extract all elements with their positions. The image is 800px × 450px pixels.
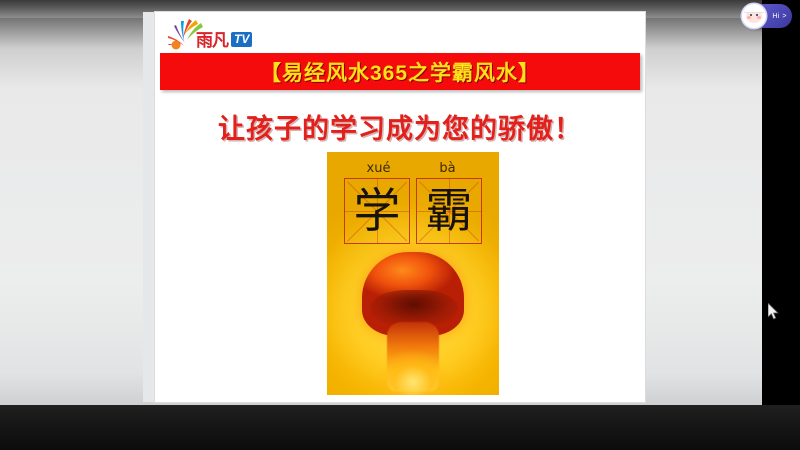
video-surface[interactable]: 雨凡 TV 【易经风水365之学霸风水】 让孩子的学习成为您的骄傲！ xué b… [0, 0, 762, 405]
pinyin-row: xué bà [344, 162, 482, 175]
avatar-cheek-left [747, 16, 751, 19]
channel-logo: 雨凡 TV [165, 16, 261, 58]
flaming-fist-illustration [358, 252, 468, 390]
character-cell-ba: 霸 [416, 178, 482, 244]
assistant-label: Hi > [772, 13, 787, 20]
logo-tv-badge: TV [231, 32, 252, 47]
slide-poster-image: xué bà 学 霸 [327, 152, 499, 395]
pinyin-ba: bà [413, 162, 482, 175]
logo-text: 雨凡 [196, 32, 228, 49]
character-glyph-xue: 学 [345, 179, 409, 243]
character-grid-row: 学 霸 [344, 178, 482, 244]
slide-title-banner: 【易经风水365之学霸风水】 [160, 53, 640, 90]
pinyin-xue: xué [344, 162, 413, 175]
fist-shadow [370, 290, 458, 326]
slide-left-margin [143, 12, 155, 402]
avatar-cheek-right [757, 16, 761, 19]
fist-flame-glow [368, 326, 458, 395]
slide-subtitle: 让孩子的学习成为您的骄傲！ [155, 107, 645, 146]
player-control-bar: 00:00:16 00:17:18 低价好课 DOUYIN:77678625 字… [0, 405, 800, 450]
mouse-cursor-icon [768, 303, 780, 321]
presentation-slide: 雨凡 TV 【易经风水365之学霸风水】 让孩子的学习成为您的骄傲！ xué b… [155, 12, 645, 402]
assistant-avatar-icon [742, 4, 766, 28]
slide-subtitle-text: 让孩子的学习成为您的骄傲！ [218, 107, 582, 146]
avatar-hat [744, 5, 764, 13]
app-root: 雨凡 TV 【易经风水365之学霸风水】 让孩子的学习成为您的骄傲！ xué b… [0, 0, 800, 450]
slide-title-text: 【易经风水365之学霸风水】 [260, 57, 540, 87]
character-glyph-ba: 霸 [417, 179, 481, 243]
character-cell-xue: 学 [344, 178, 410, 244]
assistant-bubble[interactable]: Hi > [744, 4, 792, 28]
right-black-gutter [762, 0, 800, 405]
